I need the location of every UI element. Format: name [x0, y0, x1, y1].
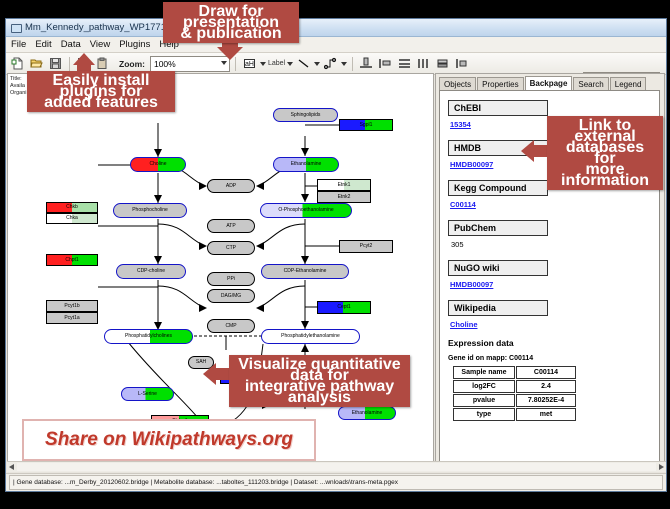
node-label: ATP	[226, 224, 235, 229]
new-file-icon[interactable]	[9, 55, 26, 72]
title-bar: Mm_Kennedy_pathway_WP1771_45176.gpml	[6, 19, 666, 37]
node-label: Phosphatidylethanolamine	[281, 334, 340, 339]
node-dagmg[interactable]: DAG/MG	[207, 289, 255, 303]
node-ppi[interactable]: PPi	[207, 272, 255, 286]
link-wikipedia[interactable]: Choline	[450, 320, 651, 329]
node-label: Etnk2	[338, 195, 351, 200]
menu-bar: File Edit Data View Plugins Help	[6, 37, 666, 53]
distribute-vertical-icon[interactable]	[396, 55, 413, 72]
text-annotation-tool[interactable]: aH	[241, 55, 266, 72]
node-label: Chkb	[66, 205, 78, 210]
save-icon[interactable]	[47, 55, 64, 72]
node-adp[interactable]: ADP	[207, 179, 255, 193]
value-pubchem: 305	[451, 240, 651, 249]
screenshot-root: Mm_Kennedy_pathway_WP1771_45176.gpml Fil…	[0, 0, 670, 509]
callout-visualize-arrow	[203, 363, 216, 385]
open-folder-icon[interactable]	[28, 55, 45, 72]
callout-plugins-line2: added features	[44, 94, 158, 111]
zoom-label: Zoom:	[119, 59, 145, 69]
node-cept1[interactable]: Cept1	[317, 301, 371, 314]
node-label: Pcyt2	[360, 244, 373, 249]
svg-text:aH: aH	[245, 61, 254, 68]
node-pcyt1b[interactable]: Pcyt1b	[46, 300, 98, 312]
node-ctp[interactable]: CTP	[207, 241, 255, 255]
node-cmp[interactable]: CMP	[207, 319, 255, 333]
node-label: Phosphatidylcholines	[125, 334, 172, 339]
section-heading-pubchem: PubChem	[448, 220, 548, 236]
callout-plugins: Easily install plugins for added feature…	[27, 71, 175, 112]
node-label: O-Phosphoethanolamine	[278, 208, 333, 213]
tab-legend[interactable]: Legend	[610, 77, 647, 91]
node-label: Phosphocholine	[132, 208, 168, 213]
callout-share: Share on Wikipathways.org	[22, 419, 316, 461]
node-label: L-Serine	[138, 392, 157, 397]
menu-item-plugins[interactable]: Plugins	[119, 39, 150, 50]
toolbar-separator	[69, 57, 70, 71]
chevron-down-icon-5[interactable]	[341, 62, 347, 66]
status-bar: | Gene database: ...m_Derby_20120602.bri…	[6, 473, 666, 491]
node-sphingolipids[interactable]: Sphingolipids	[273, 108, 338, 122]
paste-icon[interactable]	[94, 55, 111, 72]
node-chkb[interactable]: Chkb	[46, 202, 98, 213]
line-tool[interactable]	[295, 55, 320, 72]
table-row: log2FC 2.4	[453, 380, 576, 393]
cell-key: type	[453, 408, 515, 421]
node-label: Sgpl1	[360, 123, 373, 128]
node-cdp-ethanolamine[interactable]: CDP-Ethanolamine	[261, 264, 349, 279]
cell-key: pvalue	[453, 394, 515, 407]
connector-tool[interactable]	[322, 55, 347, 72]
scroll-right-arrow[interactable]	[659, 464, 664, 470]
callout-link-arrow	[521, 140, 534, 162]
cell-value: 2.4	[516, 380, 576, 393]
callout-visualize: Visualize quantitative data for integrat…	[229, 355, 410, 407]
node-etnk2[interactable]: Etnk2	[317, 191, 371, 203]
node-phosphatidylethanolamine[interactable]: Phosphatidylethanolamine	[261, 329, 360, 344]
node-chka[interactable]: Chka	[46, 213, 98, 224]
node-sgpl1[interactable]: Sgpl1	[339, 119, 393, 131]
link-kegg[interactable]: C00114	[450, 200, 651, 209]
order-icon[interactable]	[453, 55, 470, 72]
horizontal-scrollbar[interactable]	[7, 461, 666, 472]
text-annotation-icon[interactable]: aH	[241, 55, 258, 72]
node-chpt1[interactable]: Chpt1	[46, 254, 98, 266]
menu-item-data[interactable]: Data	[61, 39, 81, 50]
toolbar-separator-3	[352, 57, 353, 71]
expression-data-title: Expression data	[448, 338, 651, 348]
info-label-organism: Organi	[10, 90, 27, 97]
menu-item-file[interactable]: File	[11, 39, 26, 50]
table-row: pvalue 7.80252E-4	[453, 394, 576, 407]
cell-key: Sample name	[453, 366, 515, 379]
node-label: Choline	[150, 162, 167, 167]
node-pcyt2[interactable]: Pcyt2	[339, 240, 393, 253]
cell-key: log2FC	[453, 380, 515, 393]
node-label: Pcyt1a	[64, 316, 79, 321]
node-label: Chpt1	[65, 258, 78, 263]
callout-share-text: Share on Wikipathways.org	[45, 429, 293, 451]
zoom-value: 100%	[154, 59, 176, 69]
node-label: Pcyt1b	[64, 304, 79, 309]
node-label: Ethanolamine	[352, 411, 383, 416]
callout-draw: Draw for presentation & publication	[163, 2, 299, 43]
callout-plugins-arrow	[73, 53, 95, 65]
stack-icon[interactable]	[434, 55, 451, 72]
expression-table: Sample name C00114 log2FC 2.4 pvalue 7.8…	[452, 365, 577, 422]
node-label: DAG/MG	[221, 294, 241, 299]
line-icon[interactable]	[295, 55, 312, 72]
chevron-down-icon[interactable]	[221, 61, 227, 65]
node-label: Chka	[66, 216, 78, 221]
scrollbar-track[interactable]	[17, 463, 656, 471]
node-atp[interactable]: ATP	[207, 219, 255, 233]
section-heading-kegg: Kegg Compound	[448, 180, 548, 196]
callout-link-line3: more information	[561, 161, 649, 189]
node-o-phosphoethanolamine[interactable]: O-Phosphoethanolamine	[260, 203, 352, 218]
canvas-info-labels: Title: Availa Organi	[10, 76, 27, 97]
node-pcyt1a[interactable]: Pcyt1a	[46, 312, 98, 324]
status-bar-text: | Gene database: ...m_Derby_20120602.bri…	[9, 475, 663, 490]
node-cdp-choline[interactable]: CDP-choline	[116, 264, 186, 279]
menu-item-view[interactable]: View	[90, 39, 110, 50]
tab-backpage[interactable]: Backpage	[525, 76, 573, 91]
callout-link: Link to external databases for more info…	[547, 116, 663, 190]
node-label: CTP	[226, 246, 236, 251]
label-tool[interactable]: Label	[268, 60, 293, 67]
callout-draw-arrow	[217, 47, 243, 60]
align-left-icon[interactable]	[377, 55, 394, 72]
tab-properties[interactable]: Properties	[477, 77, 523, 91]
connector-icon[interactable]	[322, 55, 339, 72]
node-label: Sphingolipids	[291, 113, 321, 118]
node-label: CDP-choline	[137, 269, 165, 274]
info-label-title: Title:	[10, 76, 27, 83]
node-etnk1[interactable]: Etnk1	[317, 179, 371, 191]
distribute-horizontal-icon[interactable]	[415, 55, 432, 72]
pathway-canvas[interactable]: Title: Availa Organi	[7, 73, 434, 471]
section-heading-chebi: ChEBI	[448, 100, 548, 116]
menu-item-edit[interactable]: Edit	[35, 39, 51, 50]
node-label: CDP-Ethanolamine	[284, 269, 327, 274]
node-ethanolamine-top[interactable]: Ethanolamine	[273, 157, 339, 172]
chevron-down-icon-3[interactable]	[287, 62, 293, 66]
node-label: Cept1	[337, 305, 350, 310]
tab-objects[interactable]: Objects	[439, 77, 476, 91]
scroll-left-arrow[interactable]	[9, 464, 14, 470]
node-label: ADP	[226, 184, 236, 189]
node-phosphocholine[interactable]: Phosphocholine	[113, 203, 187, 218]
tab-search[interactable]: Search	[573, 77, 608, 91]
side-panel-tabs: Objects Properties Backpage Search Legen…	[439, 76, 647, 91]
node-choline-top[interactable]: Choline	[130, 157, 186, 172]
callout-draw-line2: & publication	[180, 25, 281, 42]
label-tool-text: Label	[268, 60, 285, 67]
cell-value: 7.80252E-4	[516, 394, 576, 407]
info-label-availa: Availa	[10, 83, 27, 90]
app-icon	[10, 22, 21, 33]
node-label: CMP	[225, 324, 236, 329]
node-label: Ethanolamine	[291, 162, 322, 167]
section-heading-nugo: NuGO wiki	[448, 260, 548, 276]
cell-value: C00114	[516, 366, 576, 379]
table-row: Sample name C00114	[453, 366, 576, 379]
align-bottom-icon[interactable]	[358, 55, 375, 72]
chevron-down-icon-4[interactable]	[314, 62, 320, 66]
node-label: PPi	[227, 277, 235, 282]
section-heading-wikipedia: Wikipedia	[448, 300, 548, 316]
node-label: Etnk1	[338, 183, 351, 188]
callout-visualize-line2: integrative pathway analysis	[245, 378, 394, 406]
node-ethanolamine-bottom[interactable]: Ethanolamine	[338, 406, 396, 420]
node-l-serine-left[interactable]: L-Serine	[121, 387, 174, 401]
node-phosphatidylcholines[interactable]: Phosphatidylcholines	[104, 329, 193, 344]
link-nugo[interactable]: HMDB00097	[450, 280, 651, 289]
table-row: type met	[453, 408, 576, 421]
cell-value: met	[516, 408, 576, 421]
chevron-down-icon-2[interactable]	[260, 62, 266, 66]
gene-id-line: Gene id on mapp: C00114	[448, 355, 651, 362]
